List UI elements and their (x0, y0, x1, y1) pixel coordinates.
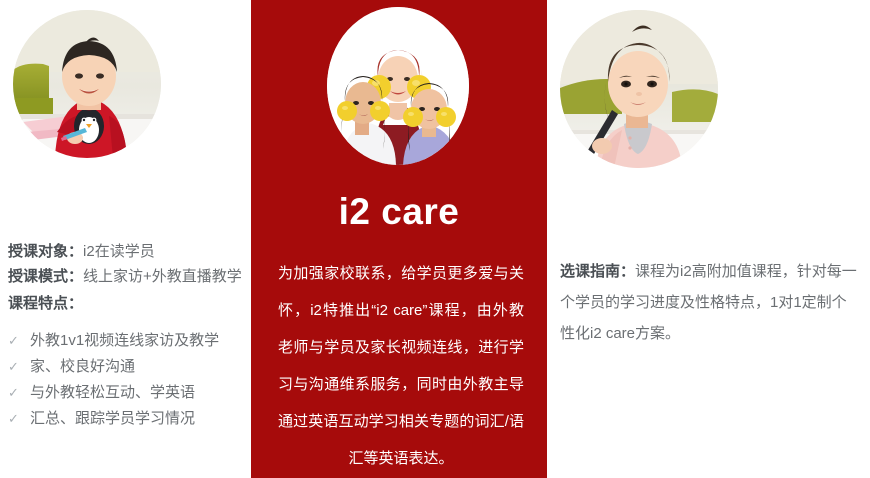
center-panel-photo (327, 7, 469, 165)
list-item: ✓ 外教1v1视频连线家访及教学 (8, 328, 248, 354)
left-panel: 授课对象：i2在读学员 授课模式：线上家访+外教直播教学 课程特点： ✓ 外教1… (0, 0, 251, 478)
right-panel-label: 选课指南： (560, 263, 635, 280)
center-panel: i2 care 为加强家校联系，给学员更多爱与关怀，i2特推出“i2 care”… (251, 0, 547, 478)
left-row-audience-value: i2在读学员 (83, 243, 155, 260)
list-item-label: 家、校良好沟通 (30, 354, 135, 380)
left-row-audience-label: 授课对象： (8, 243, 83, 260)
list-item-label: 汇总、跟踪学员学习情况 (30, 406, 195, 432)
right-panel-paragraph: 选课指南：课程为i2高附加值课程，针对每一个学员的学习进度及性格特点，1对1定制… (560, 256, 860, 349)
left-row-mode-label: 授课模式： (8, 268, 83, 285)
center-panel-paragraph: 为加强家校联系，给学员更多爱与关怀，i2特推出“i2 care”课程，由外教老师… (278, 255, 524, 477)
check-icon: ✓ (8, 328, 30, 354)
check-icon: ✓ (8, 380, 30, 406)
left-row-audience: 授课对象：i2在读学员 (8, 239, 248, 264)
list-item-label: 与外教轻松互动、学英语 (30, 380, 195, 406)
right-panel: 选课指南：课程为i2高附加值课程，针对每一个学员的学习进度及性格特点，1对1定制… (547, 0, 870, 478)
list-item-label: 外教1v1视频连线家访及教学 (30, 328, 219, 354)
left-panel-photo (13, 10, 161, 158)
left-panel-text: 授课对象：i2在读学员 授课模式：线上家访+外教直播教学 课程特点： ✓ 外教1… (8, 239, 248, 432)
right-panel-text: 选课指南：课程为i2高附加值课程，针对每一个学员的学习进度及性格特点，1对1定制… (560, 256, 860, 349)
check-icon: ✓ (8, 354, 30, 380)
left-section-label: 课程特点： (8, 291, 248, 316)
right-panel-photo (560, 10, 718, 168)
check-icon: ✓ (8, 406, 30, 432)
left-row-mode: 授课模式：线上家访+外教直播教学 (8, 264, 248, 289)
course-feature-list: ✓ 外教1v1视频连线家访及教学 ✓ 家、校良好沟通 ✓ 与外教轻松互动、学英语… (8, 328, 248, 432)
left-row-mode-value: 线上家访+外教直播教学 (83, 268, 242, 285)
list-item: ✓ 与外教轻松互动、学英语 (8, 380, 248, 406)
list-item: ✓ 家、校良好沟通 (8, 354, 248, 380)
center-panel-title: i2 care (251, 190, 547, 234)
three-panel-course-card: 授课对象：i2在读学员 授课模式：线上家访+外教直播教学 课程特点： ✓ 外教1… (0, 0, 870, 478)
list-item: ✓ 汇总、跟踪学员学习情况 (8, 406, 248, 432)
